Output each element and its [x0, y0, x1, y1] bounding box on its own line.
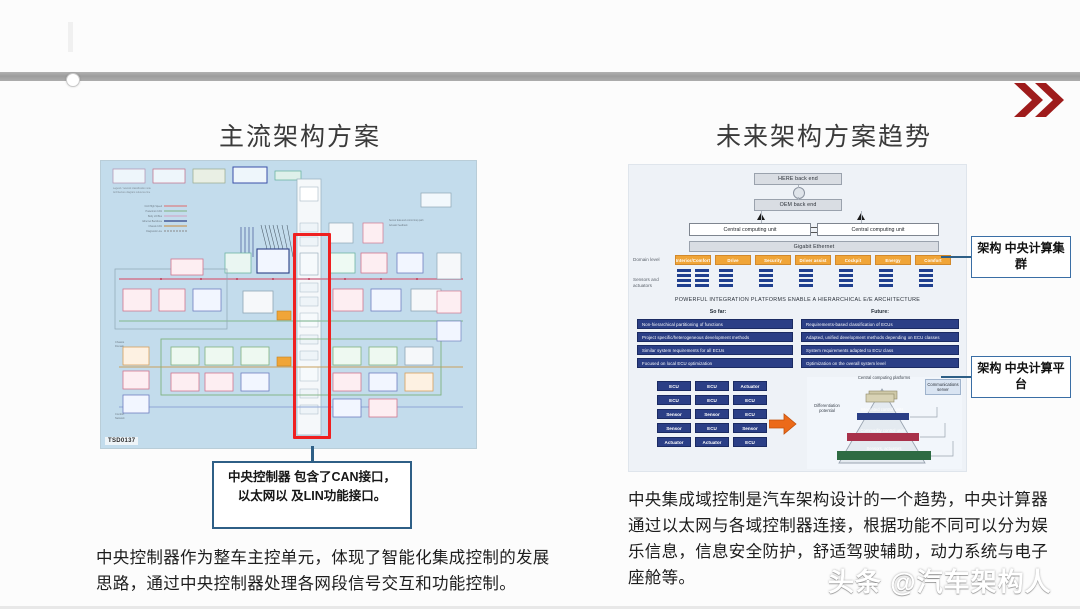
ecu-cell-0-0: ECU — [657, 381, 691, 391]
sofar-item-2: Similar system requirements for all ECUs — [637, 345, 793, 355]
ecu-cell-4-2: ECU — [733, 437, 767, 447]
oem-backend-box: OEM back end — [754, 199, 842, 211]
svg-text:Ethernet Backbone: Ethernet Backbone — [142, 220, 162, 223]
ccu-link-b — [811, 232, 817, 233]
left-architecture-diagram: Legend / network classification note Arc… — [100, 160, 477, 449]
ecu-cell-4-0: Actuator — [657, 437, 691, 447]
diagram-table-section: POWERFUL INTEGRATION PLATFORMS ENABLE A … — [629, 295, 966, 373]
pyramid-top-label: Central computing platforms — [853, 375, 915, 380]
domain-box-4: Cockpit — [835, 255, 871, 265]
sensors-actuators-label: Sensors and actuators — [633, 277, 673, 289]
band-dot-marker — [66, 73, 80, 87]
diagram-reference-label: TSD0137 — [105, 437, 138, 445]
table-section-title: POWERFUL INTEGRATION PLATFORMS ENABLE A … — [629, 297, 966, 303]
ecu-cell-3-2: Sensor — [733, 423, 767, 433]
antenna-stem-left — [761, 211, 762, 223]
gigabit-ethernet-bus: Gigabit Ethernet — [689, 241, 939, 252]
slide-canvas: 主流架构方案 未来架构方案趋势 Legend / network classif… — [0, 0, 1080, 609]
antenna-stem-right — [861, 211, 862, 223]
future-item-0: Requirements-based classification of ECU… — [801, 319, 959, 329]
svg-text:Network: Network — [115, 416, 125, 420]
sofar-item-0: Non-hierarchical partitioning of functio… — [637, 319, 793, 329]
domain-box-1: Drive — [715, 255, 751, 265]
communications-server-box: Communications server — [925, 379, 961, 395]
future-item-1: Adapted, unified development methods dep… — [801, 332, 959, 342]
ecu-cell-1-2: ECU — [733, 395, 767, 405]
svg-text:Domain: Domain — [115, 344, 124, 348]
svg-text:Legend / network classificatio: Legend / network classification note — [113, 187, 152, 190]
svg-text:Sensor data and control loop p: Sensor data and control loop path — [389, 219, 424, 222]
here-backend-box: HERE back end — [754, 173, 842, 185]
svg-text:Body LIN Bus: Body LIN Bus — [148, 216, 163, 218]
ecu-cell-3-1: ECU — [695, 423, 729, 433]
ecu-cell-1-1: ECU — [695, 395, 729, 405]
pyramid-tier-2: Sensors, actuators — [835, 446, 933, 451]
pyramid-left-label: Differentiation potential — [809, 403, 845, 413]
callout-box-right-1: 架构 中央计算集群 — [971, 236, 1071, 278]
ecu-cell-2-1: Sensor — [695, 409, 729, 419]
callout-box-left: 中央控制器 包含了CAN接口，以太网以 及LIN功能接口。 — [212, 461, 412, 529]
ccu-link-a — [811, 227, 817, 228]
domain-box-2: Security — [755, 255, 791, 265]
transition-arrow-icon — [769, 413, 797, 440]
svg-text:Chassis: Chassis — [115, 340, 125, 344]
domain-box-0: Interior/Comfort — [675, 255, 711, 265]
callout-box-right-2: 架构 中央计算平台 — [971, 356, 1071, 398]
diagram-bottom-section: ECU ECU Actuator ECU ECU ECU Sensor Sens… — [629, 373, 966, 471]
callout-leader-line-1 — [941, 256, 972, 258]
ecu-cell-3-0: Sensor — [657, 423, 691, 433]
domain-box-5: Energy — [875, 255, 911, 265]
svg-text:Architecture diagram reference: Architecture diagram reference line — [113, 191, 151, 194]
ecu-cell-1-0: ECU — [657, 395, 691, 405]
sofar-item-1: Project specific/heterogeneous developme… — [637, 332, 793, 342]
pyramid-tier-0: Integrated control units — [855, 407, 909, 412]
ecu-cell-2-2: ECU — [733, 409, 767, 419]
red-highlight-rectangle — [293, 233, 331, 439]
future-item-2: System requirements adapted to ECU class — [801, 345, 959, 355]
diagram-top-section: HERE back end OEM back end Central compu… — [629, 165, 966, 293]
ecu-cell-0-2: Actuator — [733, 381, 767, 391]
central-computing-unit-2: Central computing unit — [817, 223, 939, 236]
pyramid-tier-1: Commodity control units — [845, 428, 921, 433]
globe-icon — [793, 187, 805, 199]
domain-box-3: Driver assist — [795, 255, 831, 265]
future-item-3: Optimization on the overall system level — [801, 358, 959, 368]
double-chevron-right-icon — [1012, 80, 1066, 120]
svg-text:Diagnostic Line: Diagnostic Line — [146, 230, 162, 233]
ecu-cell-0-1: ECU — [695, 381, 729, 391]
col-header-future: Future: — [805, 309, 955, 315]
svg-text:Comfort: Comfort — [115, 412, 125, 416]
link-backend-2 — [798, 197, 799, 200]
schematic-svg: Legend / network classification note Arc… — [101, 161, 476, 448]
sofar-item-3: Focused on local ECU optimization — [637, 358, 793, 368]
svg-text:Powertrain CAN: Powertrain CAN — [146, 210, 163, 213]
page-title-left: 主流架构方案 — [219, 117, 381, 153]
right-architecture-diagram: HERE back end OEM back end Central compu… — [628, 164, 967, 472]
svg-text:Chassis CAN: Chassis CAN — [148, 225, 162, 228]
watermark-text: 头条 @汽车架构人 — [828, 562, 1052, 599]
svg-text:Actuator feedback: Actuator feedback — [389, 224, 408, 227]
callout-leader-line-2 — [941, 376, 972, 378]
header-divider-band — [0, 72, 1080, 81]
central-computing-unit-1: Central computing unit — [689, 223, 811, 236]
svg-text:CAN High Speed: CAN High Speed — [145, 205, 163, 208]
col-header-sofar: So far: — [643, 309, 793, 315]
page-title-right: 未来架构方案趋势 — [716, 117, 932, 153]
top-left-marker — [68, 22, 73, 52]
callout-connector-left — [311, 446, 314, 462]
link-backend — [798, 185, 799, 188]
schematic-canvas: Legend / network classification note Arc… — [101, 161, 476, 448]
paragraph-left: 中央控制器作为整车主控单元，体现了智能化集成控制的发展思路，通过中央控制器处理各… — [96, 545, 566, 597]
ecu-cell-2-0: Sensor — [657, 409, 691, 419]
domain-level-label: Domain level — [633, 257, 673, 263]
ecu-cell-4-1: Actuator — [695, 437, 729, 447]
